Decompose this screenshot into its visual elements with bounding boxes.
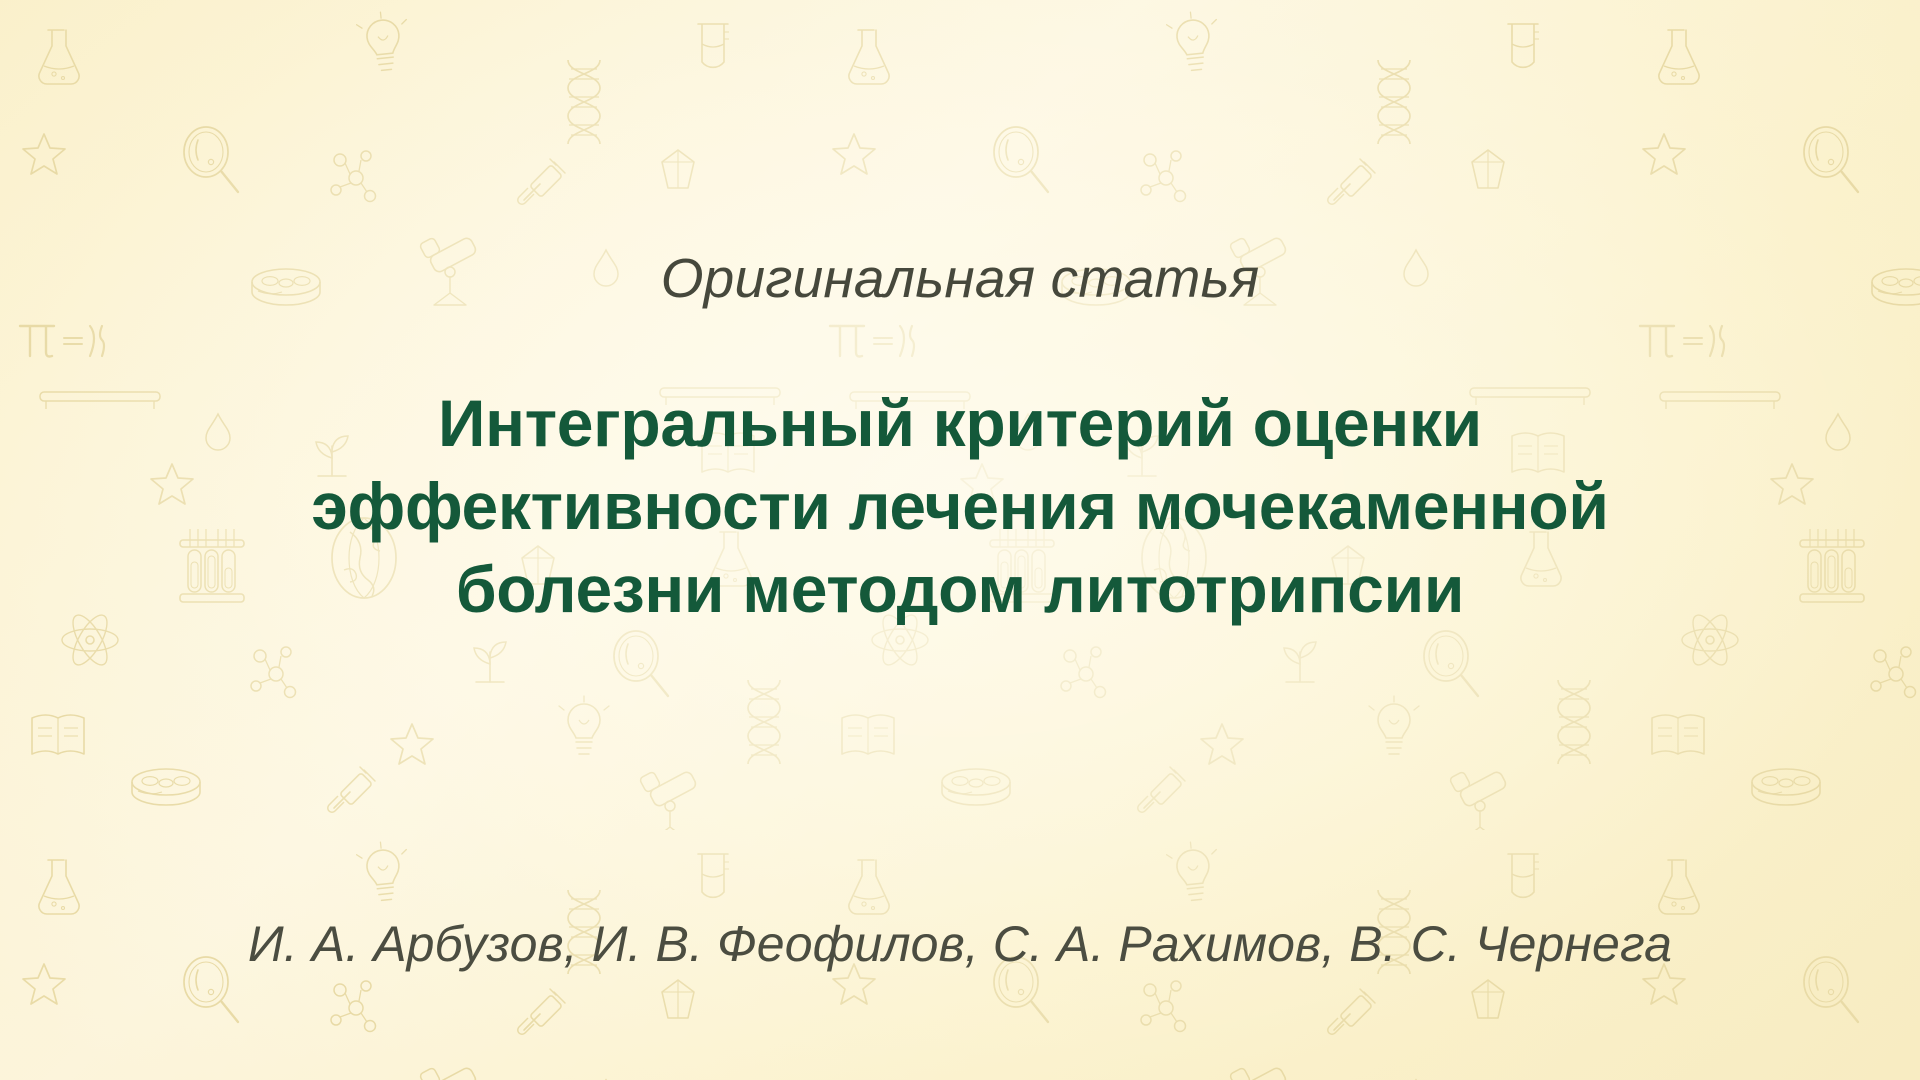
page-title: Интегральный критерий оценки эффективнос… xyxy=(170,382,1750,631)
article-type-label: Оригинальная статья xyxy=(0,248,1920,309)
author-list: И. А. Арбузов, И. В. Феофилов, С. А. Рах… xyxy=(0,916,1920,974)
page-title-line-1: Интегральный критерий оценки xyxy=(170,382,1750,465)
presentation-slide: Оригинальная статья Интегральный критери… xyxy=(0,0,1920,1080)
page-title-line-2: эффективности лечения мочекаменной xyxy=(170,465,1750,548)
page-title-line-3: болезни методом литотрипсии xyxy=(170,548,1750,631)
